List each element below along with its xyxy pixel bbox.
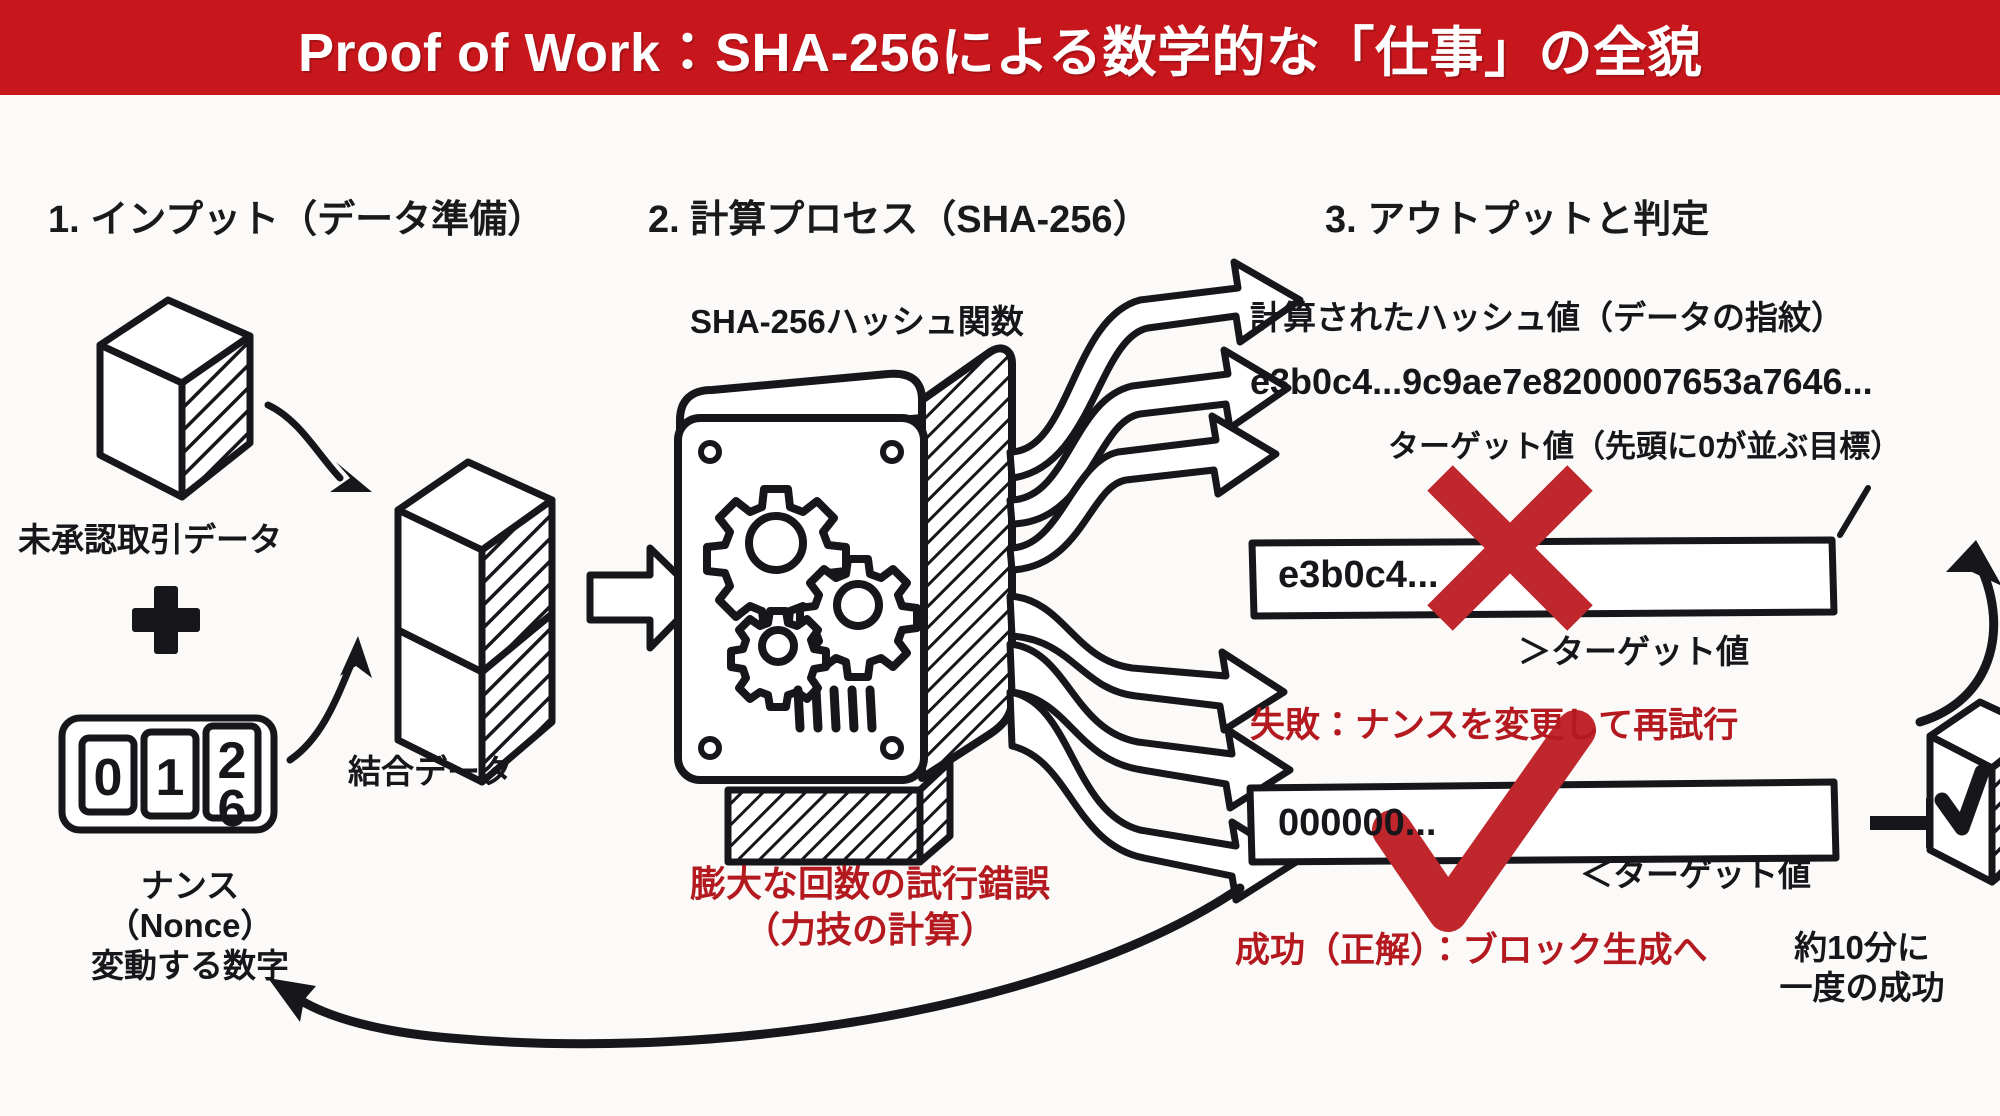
infographic-canvas: Proof of Work：SHA-256による数学的な「仕事」の全貌 1. イ… bbox=[0, 0, 2000, 1116]
global-feedback-loop-arrow bbox=[0, 0, 2000, 1116]
